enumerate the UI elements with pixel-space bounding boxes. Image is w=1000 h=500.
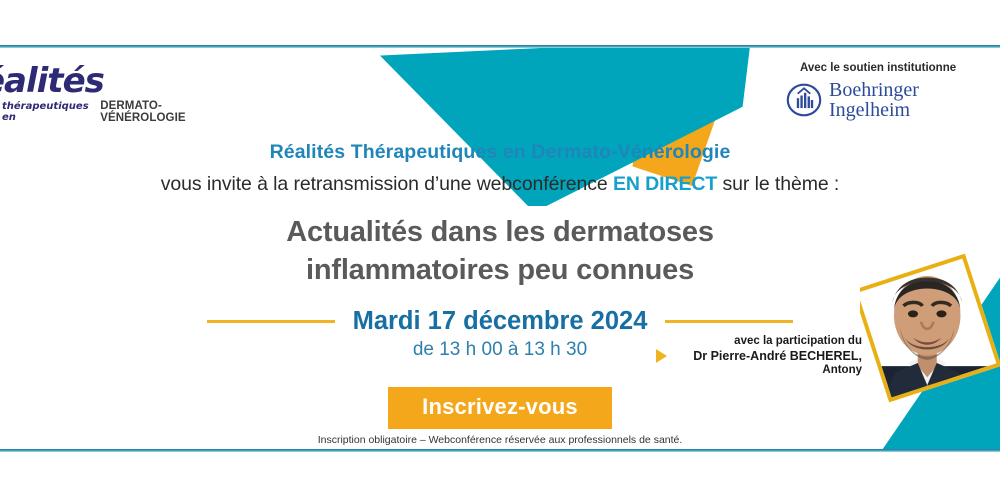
event-date: Mardi 17 décembre 2024 xyxy=(353,307,648,336)
brand-headline: Réalités Thérapeutiques en Dermato-Vénér… xyxy=(0,141,1000,164)
invitation-line: vous invite à la retransmission d’une we… xyxy=(0,173,1000,196)
speaker-block: avec la participation du Dr Pierre-André… xyxy=(652,335,862,376)
register-button[interactable]: Inscrivez-vous xyxy=(388,387,612,429)
webinar-title: Actualités dans les dermatoses inflammat… xyxy=(0,213,1000,290)
event-date-row: Mardi 17 décembre 2024 xyxy=(0,307,1000,336)
legal-disclaimer: Inscription obligatoire – Webconférence … xyxy=(0,434,1000,446)
webinar-promo-banner: éalités thérapeutiques en DERMATO-VÉNÉRO… xyxy=(0,0,1000,500)
webinar-title-line1: Actualités dans les dermatoses xyxy=(0,213,1000,251)
date-rule-left xyxy=(207,320,335,323)
speaker-city: Antony xyxy=(652,364,862,376)
webinar-title-line2: inflammatoires peu connues xyxy=(0,251,1000,289)
speaker-portrait-zone xyxy=(860,241,1000,449)
invitation-text-after: sur le thème : xyxy=(717,173,839,195)
banner-copy: Réalités Thérapeutiques en Dermato-Vénér… xyxy=(0,48,1000,361)
speaker-name: Dr Pierre-André BECHEREL, xyxy=(693,349,862,363)
banner-card: éalités thérapeutiques en DERMATO-VÉNÉRO… xyxy=(0,48,1000,449)
live-badge-text: EN DIRECT xyxy=(613,173,717,195)
cta-row: Inscrivez-vous xyxy=(0,387,1000,429)
speaker-kicker-text: avec la participation du xyxy=(652,335,862,347)
invitation-text-before: vous invite à la retransmission d’une we… xyxy=(161,173,613,195)
speaker-name-row: Dr Pierre-André BECHEREL, xyxy=(652,349,862,363)
bottom-divider-rule xyxy=(0,449,1000,452)
date-rule-right xyxy=(665,320,793,323)
gold-triangle-bullet-icon xyxy=(656,349,667,363)
